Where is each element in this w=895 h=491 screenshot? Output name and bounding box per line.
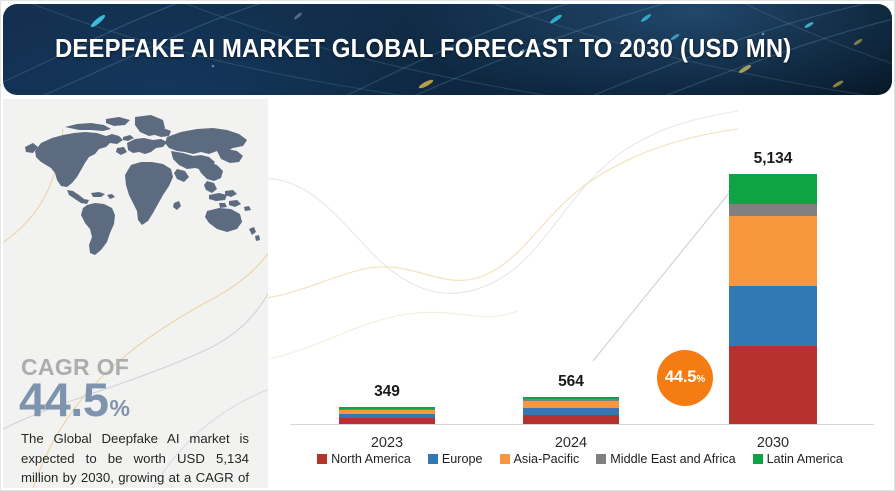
world-map-icon [11, 107, 263, 257]
bar-segment-asia-pacific[interactable] [523, 401, 619, 409]
chart-legend: North AmericaEuropeAsia-PacificMiddle Ea… [268, 446, 892, 472]
plot-region: 349 2023 564 2024 5,134 2030 44.5 % [268, 99, 892, 488]
bar-total-label: 564 [496, 373, 646, 391]
market-description: The Global Deepfake AI market is expecte… [21, 429, 249, 488]
legend-label: Europe [442, 452, 483, 466]
bar-segment-middle-east-and-africa[interactable] [729, 204, 817, 216]
chart-area: 349 2023 564 2024 5,134 2030 44.5 % [268, 99, 892, 488]
bar-segment-north-america[interactable] [523, 415, 619, 424]
bar-stack[interactable] [339, 407, 435, 424]
cagr-callout-percent: % [696, 374, 705, 385]
legend-label: Asia-Pacific [514, 452, 580, 466]
bar-segment-north-america[interactable] [729, 346, 817, 424]
cagr-callout-badge: 44.5 % [657, 350, 713, 406]
legend-swatch-icon [596, 454, 606, 464]
bar-segment-europe[interactable] [729, 286, 817, 346]
bar-segment-europe[interactable] [523, 408, 619, 415]
legend-label: Latin America [767, 452, 843, 466]
legend-item-latin-america[interactable]: Latin America [753, 452, 843, 466]
legend-label: Middle East and Africa [610, 452, 735, 466]
bar-stack[interactable] [523, 397, 619, 424]
bar-segment-latin-america[interactable] [729, 174, 817, 204]
bar-total-label: 349 [312, 383, 462, 401]
cagr-number: 44.5 [19, 372, 108, 427]
cagr-callout-value: 44.5 [665, 368, 696, 387]
legend-item-europe[interactable]: Europe [428, 452, 483, 466]
header-banner: DEEPFAKE AI MARKET GLOBAL FORECAST TO 20… [3, 4, 892, 95]
legend-item-north-america[interactable]: North America [317, 452, 411, 466]
bar-group-2024: 564 2024 [496, 397, 646, 424]
cagr-percent-symbol: % [109, 395, 129, 422]
legend-label: North America [331, 452, 411, 466]
bar-segment-north-america[interactable] [339, 418, 435, 424]
legend-swatch-icon [428, 454, 438, 464]
bar-stack[interactable] [729, 174, 817, 424]
cagr-value: 44.5 % [19, 372, 130, 427]
bar-segment-asia-pacific[interactable] [729, 216, 817, 286]
bar-group-2030: 5,134 2030 [698, 174, 848, 424]
legend-swatch-icon [317, 454, 327, 464]
page-title: DEEPFAKE AI MARKET GLOBAL FORECAST TO 20… [55, 4, 791, 95]
left-info-panel: CAGR OF 44.5 % The Global Deepfake AI ma… [3, 99, 268, 488]
bar-group-2023: 349 2023 [312, 407, 462, 424]
bar-total-label: 5,134 [698, 150, 848, 168]
legend-item-middle-east-and-africa[interactable]: Middle East and Africa [596, 452, 735, 466]
legend-item-asia-pacific[interactable]: Asia-Pacific [500, 452, 580, 466]
legend-swatch-icon [500, 454, 510, 464]
legend-swatch-icon [753, 454, 763, 464]
